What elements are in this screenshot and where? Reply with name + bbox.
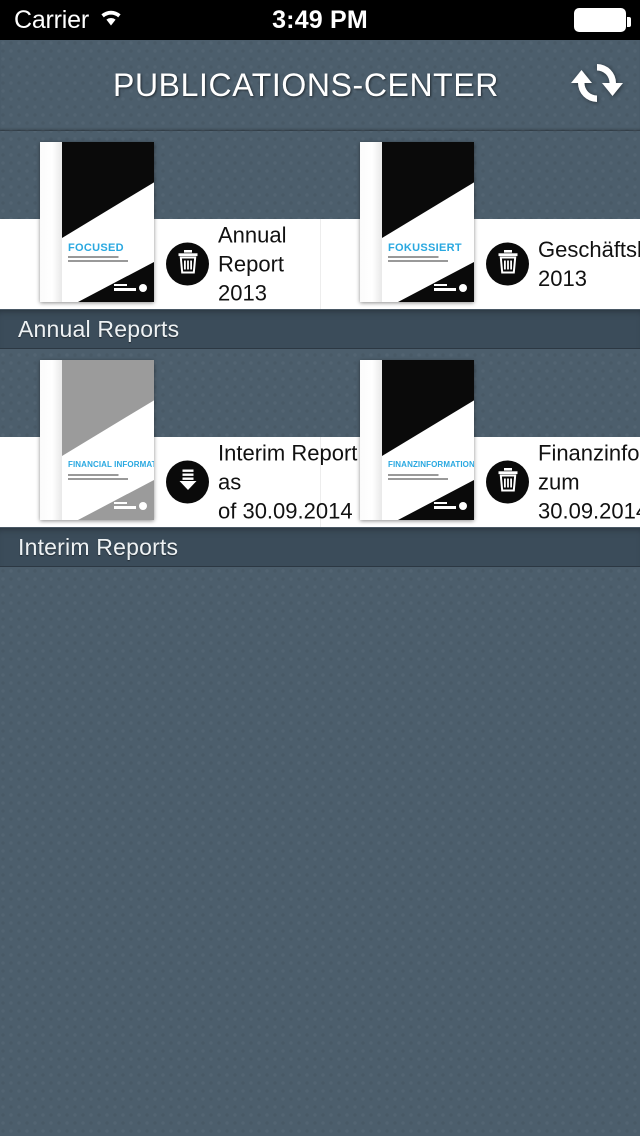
page-title: PUBLICATIONS-CENTER [0,67,554,104]
cover-spine [360,360,382,520]
publication-label: Geschäftsbericht 2013 [538,235,640,293]
publication-label: Finanzinformation zum 30.09.2014 [538,439,640,526]
cover-title: FINANCIAL INFORMATION [68,460,154,469]
trash-icon [497,468,519,497]
publication-cell[interactable]: FOCUSED [0,219,320,309]
cover-thumbnail[interactable]: FOCUSED [40,142,154,302]
nav-bar: PUBLICATIONS-CENTER [0,40,640,131]
row-band: FINANCIAL INFORMATION [0,437,640,527]
cover-thumbnail[interactable]: FOKUSSIERT [360,142,474,302]
trash-icon [497,250,519,279]
cover-subtitle-lines [68,474,138,483]
cover-triangle-top [62,360,154,456]
cover-title: FINANZINFORMATION [388,460,474,469]
status-bar: Carrier 3:49 PM [0,0,640,40]
cover-logo [433,281,467,295]
wifi-icon [98,8,124,32]
clock-label: 3:49 PM [272,6,368,35]
row-band: FOCUSED [0,219,640,309]
publications-list[interactable]: FOCUSED [0,131,640,1136]
cover-logo [113,281,147,295]
app-screen: Carrier 3:49 PM PUBLICATIONS-CENTER [0,0,640,1136]
cover-spine [40,360,62,520]
cover-triangle-top [382,360,474,456]
section-header: Annual Reports [0,309,640,349]
publication-cell[interactable]: FOKUSSIERT [320,219,640,309]
refresh-icon [571,57,623,114]
cover-subtitle-lines [388,256,458,265]
section-annual-reports: FOCUSED [0,219,640,349]
cover-logo [113,499,147,513]
status-bar-left: Carrier [0,6,272,35]
cover-spine [40,142,62,302]
cover-spine [360,142,382,302]
cover-thumbnail[interactable]: FINANCIAL INFORMATION [40,360,154,520]
cover-logo [433,499,467,513]
cover-title: FOKUSSIERT [388,242,462,254]
trash-icon [177,250,199,279]
cover-subtitle-lines [68,256,138,265]
download-icon [177,468,199,497]
carrier-label: Carrier [14,6,89,35]
publication-cell[interactable]: FINANZINFORMATION [320,437,640,527]
battery-full-icon [574,8,626,32]
cover-triangle-top [382,142,474,238]
status-bar-right [368,8,640,32]
refresh-button[interactable] [554,42,640,128]
publication-cell[interactable]: FINANCIAL INFORMATION [0,437,320,527]
section-header-title: Interim Reports [18,534,178,561]
delete-button[interactable] [486,243,529,286]
cover-thumbnail[interactable]: FINANZINFORMATION [360,360,474,520]
cover-title: FOCUSED [68,242,124,254]
delete-button[interactable] [166,243,209,286]
section-header: Interim Reports [0,527,640,567]
section-interim-reports: FINANCIAL INFORMATION [0,437,640,567]
section-header-title: Annual Reports [18,316,179,343]
cover-triangle-top [62,142,154,238]
download-button[interactable] [166,461,209,504]
delete-button[interactable] [486,461,529,504]
cover-subtitle-lines [388,474,458,483]
